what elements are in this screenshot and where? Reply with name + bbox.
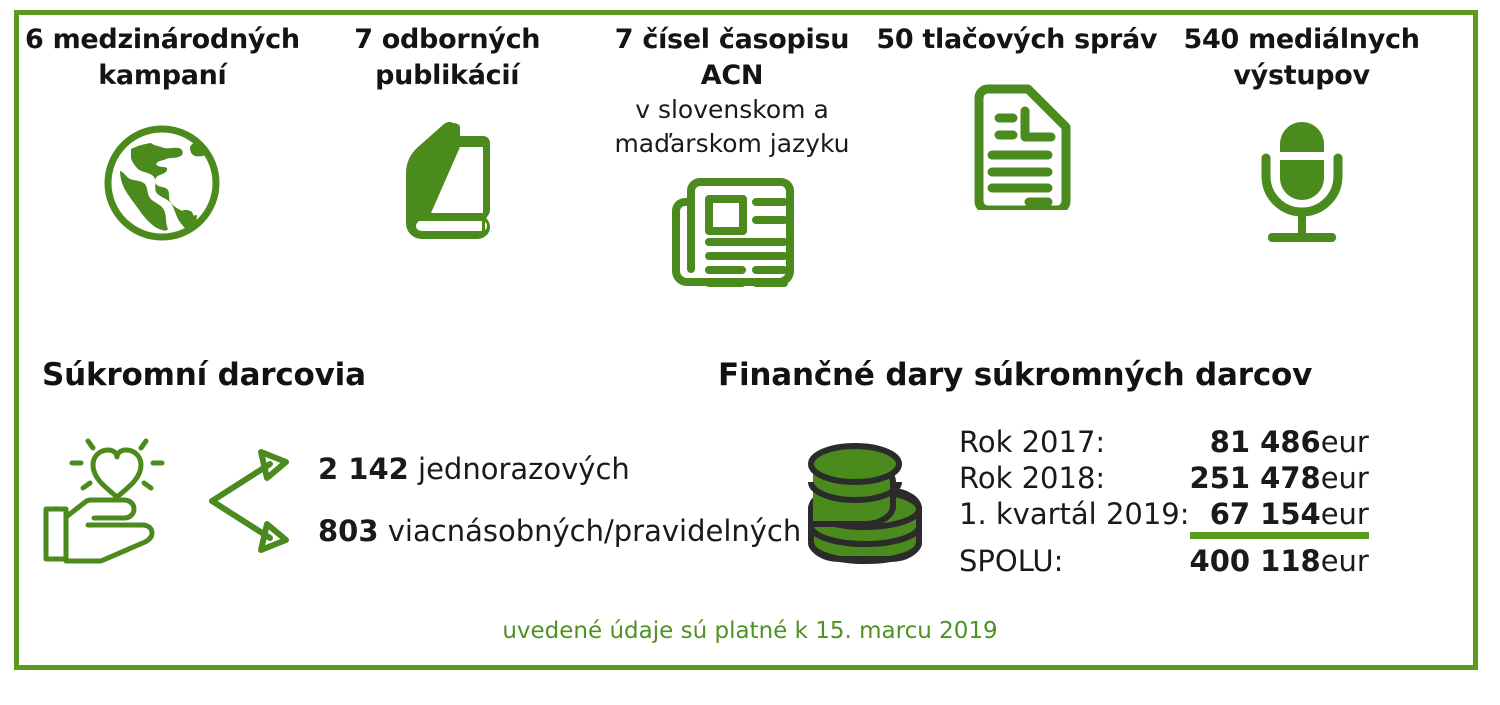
donor-count-one-time: 2 142: [318, 452, 409, 486]
stat-title-campaigns: 6 medzinárodných kampaní: [20, 22, 305, 93]
donor-count-recurring: 803: [318, 514, 379, 548]
globe-icon: [98, 115, 226, 250]
donors-block: 2 142 jednorazových 803 viacnásobných/pr…: [42, 425, 832, 575]
finance-unit-total: eur: [1321, 536, 1369, 580]
finance-row-total: SPOLU: 400 118 eur: [959, 536, 1369, 580]
infographic-canvas: 6 medzinárodných kampaní 7 odborných pub…: [0, 0, 1500, 705]
finance-value-2017: 81 486: [1190, 424, 1321, 460]
finance-unit-2018: eur: [1321, 460, 1369, 496]
book-icon: [396, 113, 498, 248]
donor-line-one-time: 2 142 jednorazových: [318, 452, 801, 486]
stat-title-media-outputs: 540 mediálnych výstupov: [1159, 22, 1444, 93]
finance-value-2018: 251 478: [1190, 460, 1321, 496]
donor-lines: 2 142 jednorazových 803 viacnásobných/pr…: [318, 452, 801, 548]
finance-row-q1-2019: 1. kvartál 2019: 67 154 eur: [959, 496, 1369, 536]
stat-card-media-outputs: 540 mediálnych výstupov: [1159, 22, 1444, 248]
finance-label-2018: Rok 2018:: [959, 460, 1190, 496]
donor-line-recurring: 803 viacnásobných/pravidelných: [318, 514, 801, 548]
stat-title-publications: 7 odborných publikácií: [305, 22, 590, 93]
finance-block: Rok 2017: 81 486 eur Rok 2018: 251 478 e…: [805, 424, 1455, 579]
finance-value-total: 400 118: [1190, 536, 1321, 580]
finance-unit-2017: eur: [1321, 424, 1369, 460]
donor-label-recurring: viacnásobných/pravidelných: [388, 514, 801, 548]
microphone-icon: [1250, 113, 1354, 248]
section-heading-donors: Súkromní darcovia: [42, 357, 366, 393]
stat-card-press-releases: 50 tlačových správ: [874, 22, 1159, 213]
stats-row: 6 medzinárodných kampaní 7 odborných pub…: [20, 22, 1444, 332]
finance-unit-q1-2019: eur: [1321, 496, 1369, 536]
stat-subtitle-magazine: v slovenskom a maďarskom jazyku: [590, 93, 875, 160]
finance-label-total: SPOLU:: [959, 536, 1190, 580]
donor-label-one-time: jednorazových: [418, 452, 630, 486]
document-icon: [959, 78, 1075, 213]
footnote-validity-date: uvedené údaje sú platné k 15. marcu 2019: [0, 618, 1500, 644]
finance-table: Rok 2017: 81 486 eur Rok 2018: 251 478 e…: [959, 424, 1369, 579]
stat-title-press-releases: 50 tlačových správ: [876, 22, 1157, 58]
newspaper-icon: [665, 164, 799, 299]
stat-card-publications: 7 odborných publikácií: [305, 22, 590, 248]
stat-card-campaigns: 6 medzinárodných kampaní: [20, 22, 305, 250]
coins-stack-icon: [805, 436, 927, 575]
finance-label-2017: Rok 2017:: [959, 424, 1190, 460]
finance-value-q1-2019: 67 154: [1190, 496, 1321, 536]
finance-label-q1-2019: 1. kvartál 2019:: [959, 496, 1190, 536]
stat-title-magazine: 7 čísel časopisu ACN: [590, 22, 875, 93]
branching-arrows-icon: [208, 443, 308, 562]
finance-row-2017: Rok 2017: 81 486 eur: [959, 424, 1369, 460]
hand-heart-icon: [42, 431, 202, 570]
section-heading-financial-gifts: Finančné dary súkromných darcov: [718, 357, 1312, 393]
stat-card-magazine: 7 čísel časopisu ACN v slovenskom a maďa…: [590, 22, 875, 299]
finance-row-2018: Rok 2018: 251 478 eur: [959, 460, 1369, 496]
